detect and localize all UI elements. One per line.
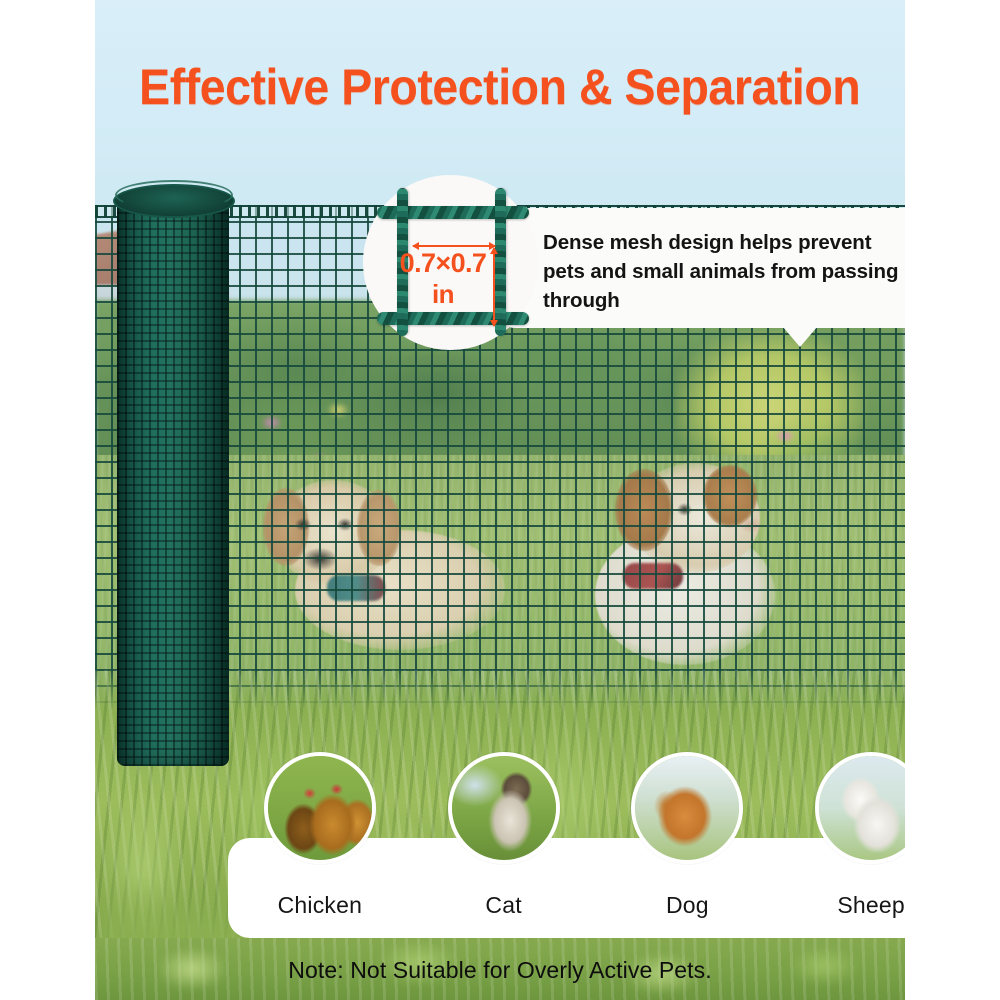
footer-note: Note: Not Suitable for Overly Active Pet… — [95, 957, 905, 984]
dog-photo-icon — [631, 752, 743, 864]
mesh-wire-right — [495, 188, 506, 336]
mesh-fence-roll-icon — [117, 196, 229, 766]
list-item[interactable]: Sheep — [784, 752, 905, 919]
dimension-value: 0.7×0.7 — [400, 248, 487, 278]
roll-top-wire-ends-icon — [115, 180, 233, 210]
list-item[interactable]: Cat — [416, 752, 591, 919]
roll-mesh-texture — [117, 196, 229, 766]
callout-description: Dense mesh design helps prevent pets and… — [543, 228, 903, 315]
cat-photo-icon — [448, 752, 560, 864]
product-feature-page: Effective Protection & Separation 0.7×0.… — [0, 0, 1000, 1000]
list-item[interactable]: Chicken — [232, 752, 407, 919]
dimension-label: 0.7×0.7 in — [391, 248, 495, 310]
page-title: Effective Protection & Separation — [139, 58, 860, 116]
animal-label: Chicken — [278, 892, 363, 919]
animal-label: Dog — [666, 892, 709, 919]
animal-list: Chicken Cat Dog Sheep — [228, 752, 905, 938]
beagle-dog — [585, 455, 845, 670]
labrador-dog — [265, 470, 535, 670]
callout-tail — [783, 327, 817, 347]
product-scene: Effective Protection & Separation 0.7×0.… — [95, 0, 905, 1000]
animal-label: Cat — [485, 892, 521, 919]
sheep-photo-icon — [815, 752, 905, 864]
dimension-arrow-horizontal — [413, 245, 495, 247]
animal-label: Sheep — [837, 892, 905, 919]
dimension-unit: in — [391, 279, 495, 310]
list-item[interactable]: Dog — [600, 752, 775, 919]
chicken-photo-icon — [264, 752, 376, 864]
header: Effective Protection & Separation — [95, 58, 905, 116]
